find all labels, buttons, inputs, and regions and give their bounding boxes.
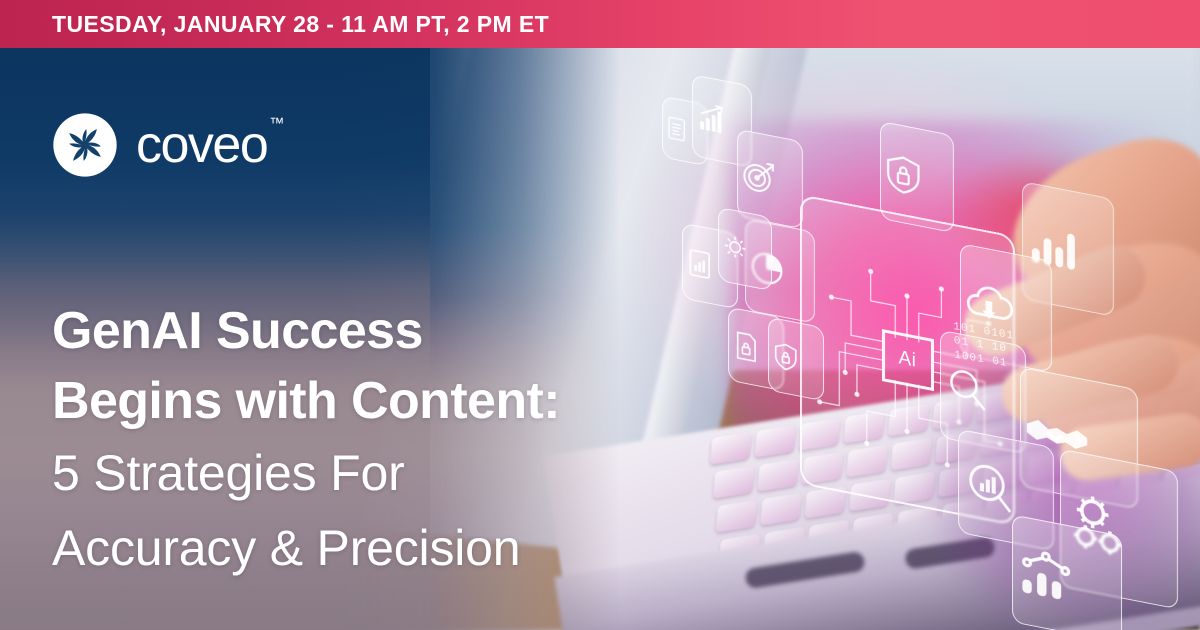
headline-line-1: GenAI Success [52,296,560,366]
laptop-key [713,466,755,499]
laptop-key [710,432,752,465]
target-bullseye-icon [738,153,802,205]
coveo-wordmark-text: coveo [136,116,267,174]
date-banner: TUESDAY, JANUARY 28 - 11 AM PT, 2 PM ET [0,0,1200,48]
coveo-wordmark: coveo™ [136,119,282,171]
webinar-promo-card: Ai [0,0,1200,630]
webinar-date-text: TUESDAY, JANUARY 28 - 11 AM PT, 2 PM ET [52,11,549,38]
bar-chart-nodes-icon [1013,535,1121,623]
subheadline-line-1: 5 Strategies For [52,436,560,511]
laptop-key [760,493,802,526]
gear-icon [719,228,771,270]
coveo-pinwheel-logo-icon [52,112,118,178]
shield-lock-icon [881,148,953,207]
laptop-key [716,500,758,533]
coveo-logo[interactable]: coveo™ [52,112,282,178]
trademark-symbol: ™ [269,115,284,132]
magnifier-chart-icon [959,452,1053,529]
headline-line-2: Begins with Content: [52,366,560,436]
laptop-key [754,425,796,458]
tile-gear [718,207,772,291]
laptop-key [757,459,799,492]
headline-block: GenAI Success Begins with Content: 5 Str… [52,296,560,586]
tile-bar-chart-nodes [1012,514,1122,630]
subheadline-line-2: Accuracy & Precision [52,511,560,586]
